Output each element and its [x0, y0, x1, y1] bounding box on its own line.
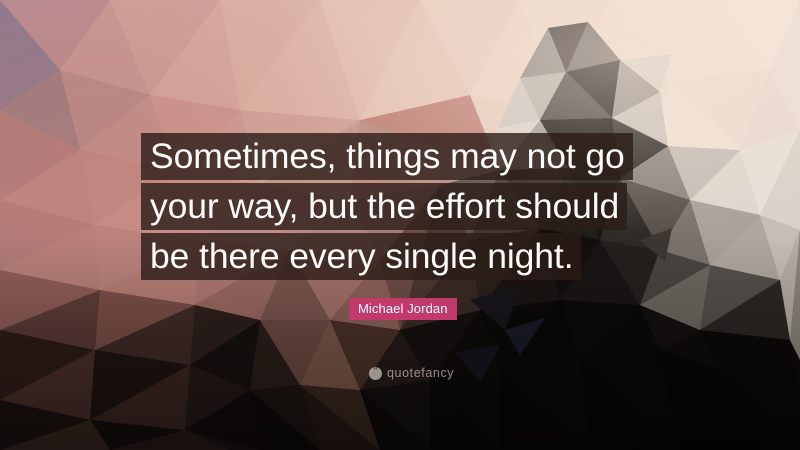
- watermark-brand-label: quotefancy: [387, 366, 454, 380]
- quote-line-3: be there every single night.: [141, 233, 581, 280]
- quote-line-1: Sometimes, things may not go: [141, 133, 633, 180]
- quote-mark-glyph: “: [373, 368, 378, 377]
- quotefancy-watermark: “ quotefancy: [369, 366, 454, 380]
- quote-text-block: Sometimes, things may not go your way, b…: [141, 133, 681, 283]
- author-badge: Michael Jordan: [349, 298, 457, 320]
- quote-mark-icon: “: [369, 367, 382, 380]
- quote-poster: Sometimes, things may not go your way, b…: [0, 0, 800, 450]
- quote-line-2: your way, but the effort should: [141, 183, 627, 230]
